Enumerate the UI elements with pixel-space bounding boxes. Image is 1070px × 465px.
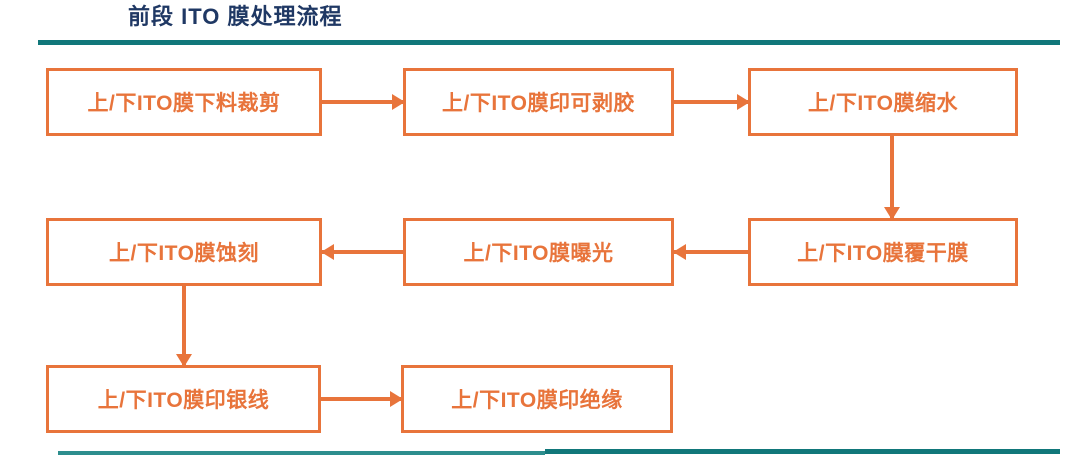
process-node-label: 上/下ITO膜曝光: [464, 237, 614, 267]
footer-divider-right: [545, 449, 1060, 454]
arrowhead: [673, 244, 686, 260]
process-node-label: 上/下ITO膜印绝缘: [451, 384, 622, 414]
arrow-right-icon: [674, 86, 749, 118]
process-node-step-8[interactable]: 上/下ITO膜印绝缘: [401, 365, 673, 433]
arrowhead: [737, 94, 750, 110]
page-title: 前段 ITO 膜处理流程: [128, 2, 343, 32]
arrow-right-icon: [322, 86, 404, 118]
process-node-step-2[interactable]: 上/下ITO膜印可剥胶: [403, 68, 674, 136]
arrowhead: [390, 391, 403, 407]
process-node-step-4[interactable]: 上/下ITO膜覆干膜: [748, 218, 1018, 286]
process-node-step-3[interactable]: 上/下ITO膜缩水: [748, 68, 1018, 136]
arrow-left-icon: [674, 236, 749, 268]
arrow-right-icon: [321, 383, 402, 415]
process-node-label: 上/下ITO膜印可剥胶: [442, 87, 635, 117]
connector-shaft: [322, 250, 404, 254]
header-divider: [38, 40, 1060, 45]
process-node-label: 上/下ITO膜下料裁剪: [88, 87, 281, 117]
footer-divider-left: [58, 451, 545, 455]
arrowhead: [884, 207, 900, 220]
arrow-down-icon: [876, 136, 908, 219]
arrow-left-icon: [322, 236, 404, 268]
arrowhead: [392, 94, 405, 110]
process-node-label: 上/下ITO膜蚀刻: [109, 237, 259, 267]
process-node-label: 上/下ITO膜覆干膜: [797, 237, 968, 267]
flowchart-page: 前段 ITO 膜处理流程 上/下ITO膜下料裁剪 上/下ITO膜印可剥胶 上/下…: [0, 0, 1070, 465]
arrowhead: [321, 244, 334, 260]
process-node-label: 上/下ITO膜缩水: [808, 87, 958, 117]
process-node-label: 上/下ITO膜印银线: [98, 384, 269, 414]
process-node-step-5[interactable]: 上/下ITO膜曝光: [403, 218, 674, 286]
process-node-step-6[interactable]: 上/下ITO膜蚀刻: [46, 218, 322, 286]
arrow-down-icon: [168, 286, 200, 366]
arrowhead: [176, 354, 192, 367]
process-node-step-1[interactable]: 上/下ITO膜下料裁剪: [46, 68, 322, 136]
process-node-step-7[interactable]: 上/下ITO膜印银线: [46, 365, 321, 433]
